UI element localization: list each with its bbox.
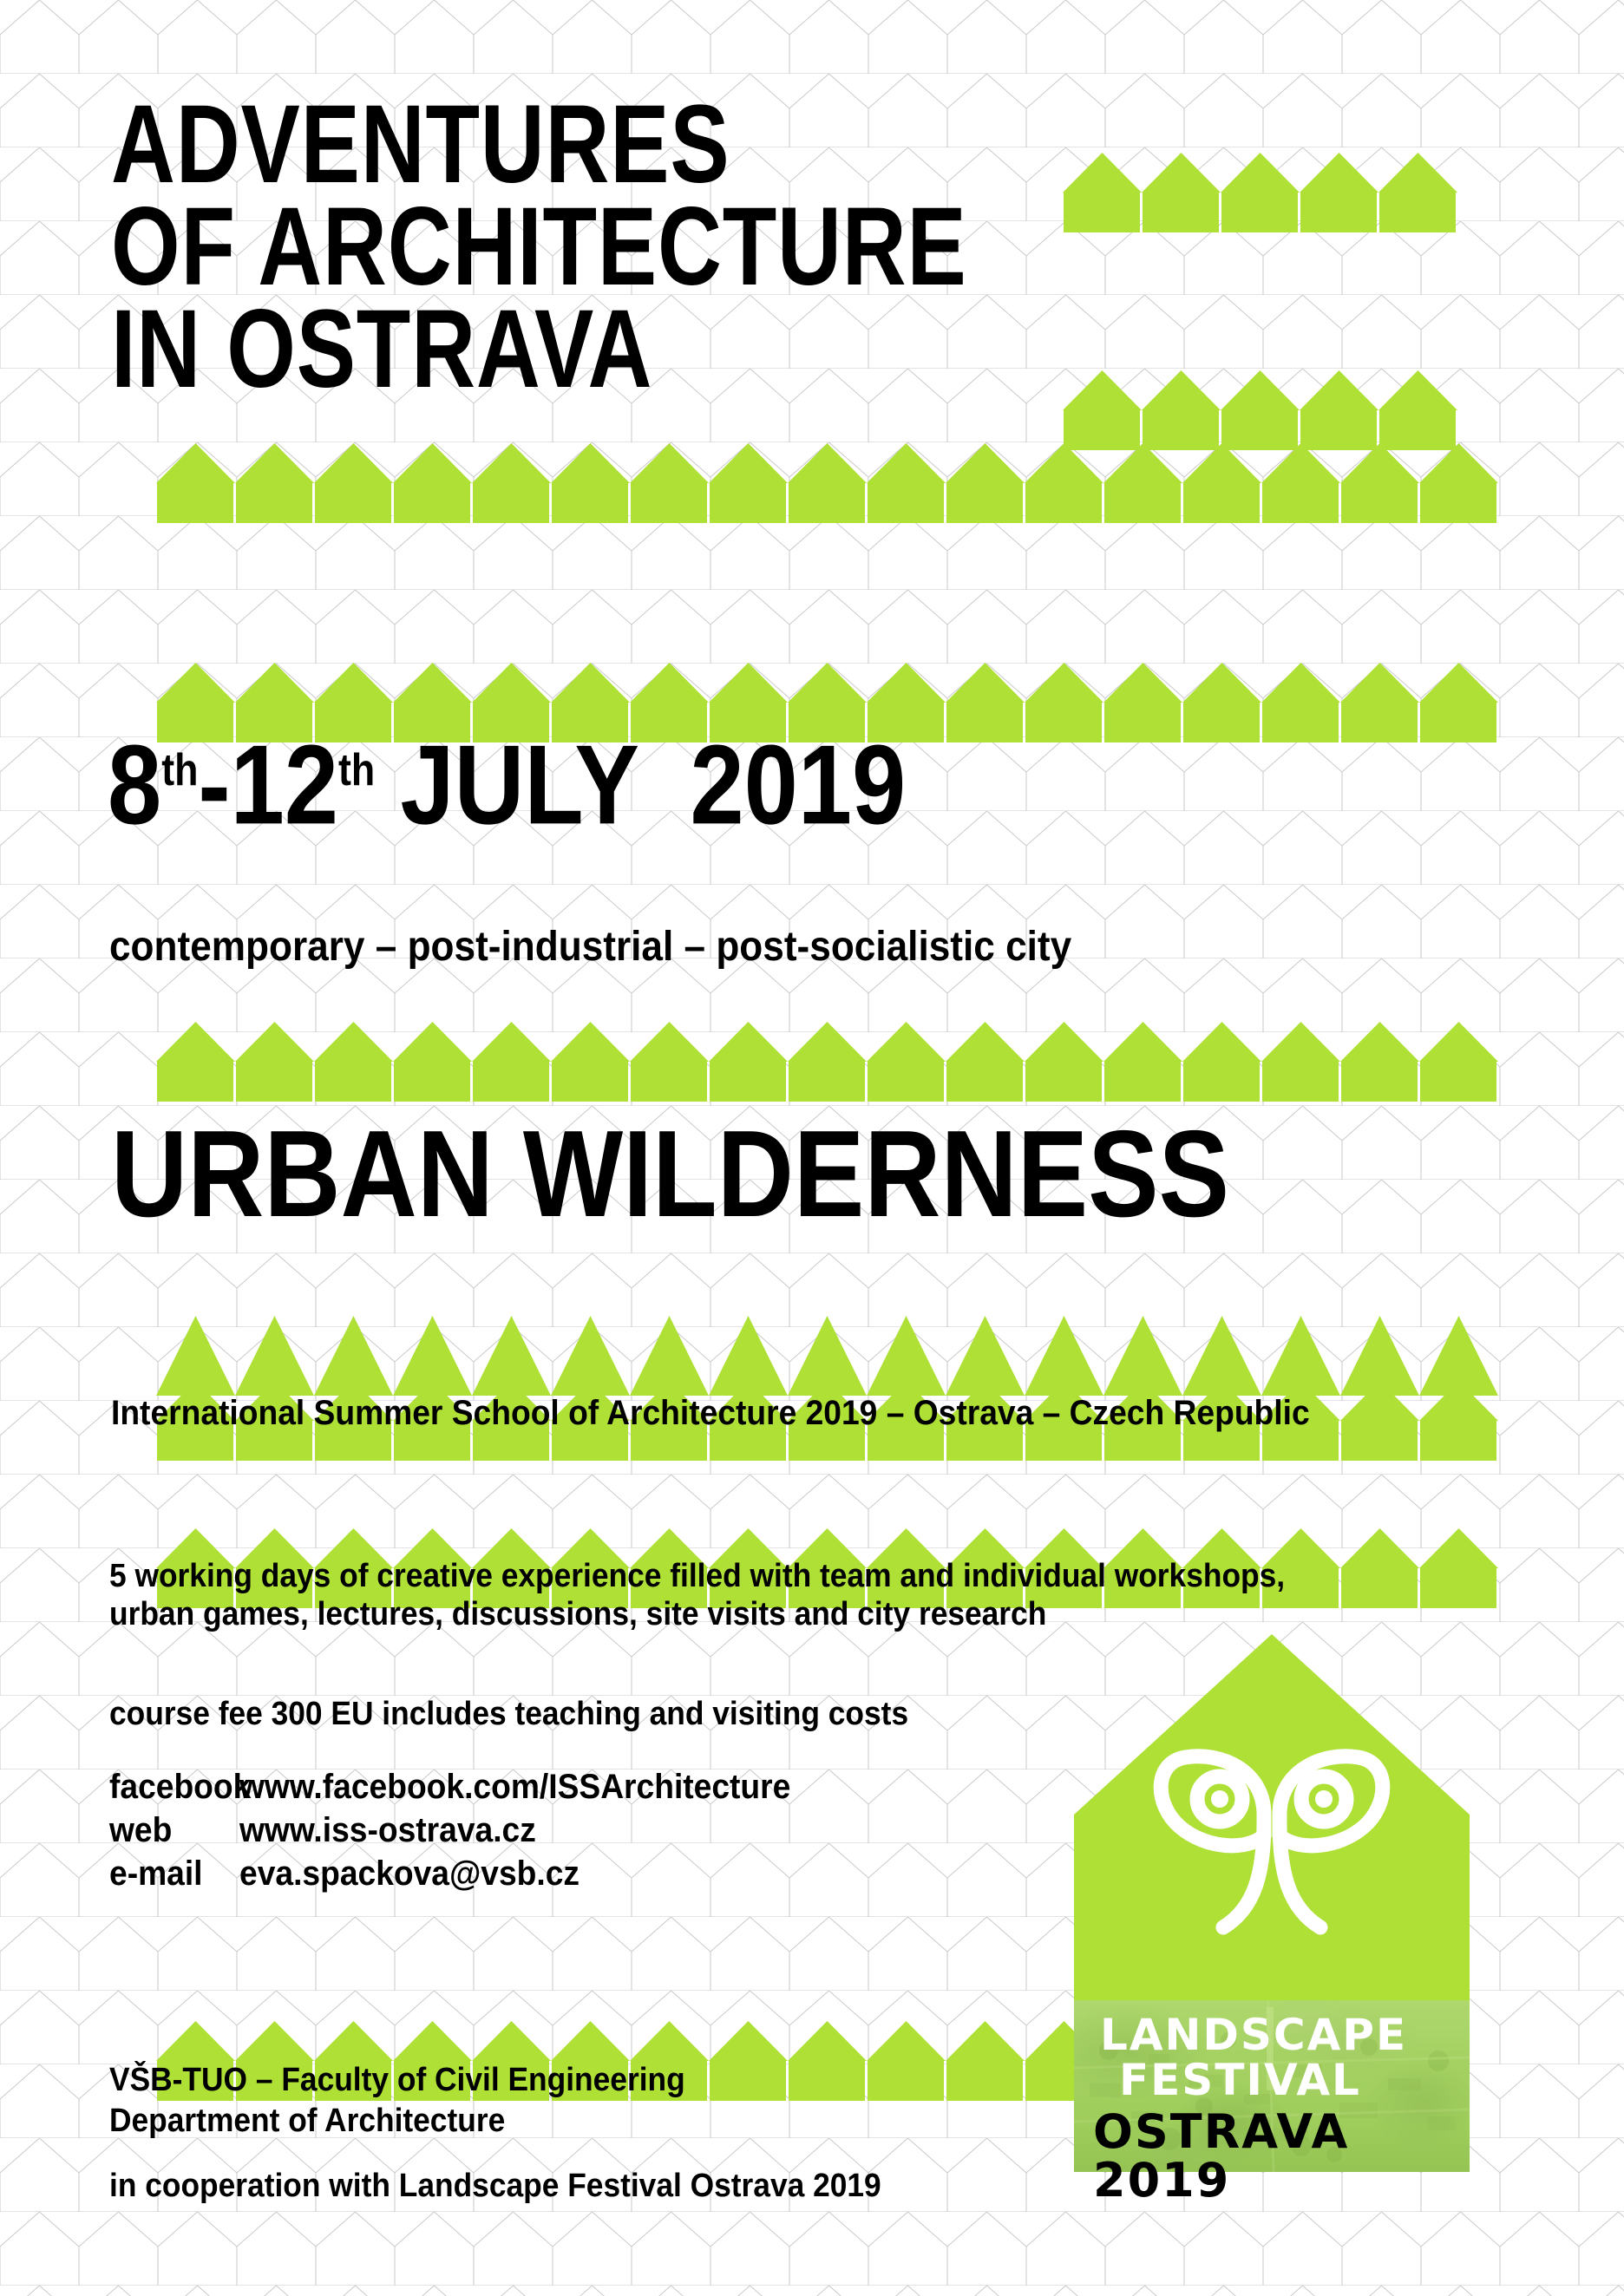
house-body: [946, 702, 1023, 742]
green-house-icon: [1261, 443, 1340, 523]
house-roof: [156, 663, 235, 703]
landscape-festival-logo: LANDSCAPE FESTIVAL OSTRAVA 2019: [1074, 1634, 1470, 2172]
green-house-icon: [1103, 1022, 1182, 1102]
house-roof: [551, 443, 630, 483]
contact-row-email[interactable]: e-mail eva.spackova@vsb.cz: [109, 1852, 832, 1895]
house-roof: [630, 2021, 709, 2061]
house-band-4: [156, 1022, 1498, 1102]
green-house-icon: [1300, 153, 1378, 232]
contact-value-email[interactable]: eva.spackova@vsb.cz: [239, 1852, 580, 1895]
description-line-2: urban games, lectures, discussions, site…: [109, 1595, 1285, 1633]
house-roof: [235, 1022, 314, 1062]
description-block: 5 working days of creative experience fi…: [109, 1557, 1373, 1633]
house-body: [1420, 482, 1496, 523]
house-roof: [788, 443, 867, 483]
green-house-icon: [235, 1022, 314, 1102]
house-roof: [393, 443, 472, 483]
house-body: [710, 482, 786, 523]
house-body: [1420, 1567, 1496, 1608]
house-roof: [472, 2021, 551, 2061]
date-ordinal-end: th: [338, 745, 375, 795]
house-roof: [314, 1022, 393, 1062]
house-roof: [235, 443, 314, 483]
house-roof: [1103, 443, 1182, 483]
house-roof: [472, 443, 551, 483]
house-roof: [472, 1022, 551, 1062]
house-band-2: [156, 443, 1498, 523]
house-body: [1341, 702, 1418, 742]
house-roof: [630, 1022, 709, 1062]
house-body: [1341, 1061, 1418, 1102]
green-house-icon: [551, 1022, 630, 1102]
house-body: [789, 1061, 865, 1102]
green-house-icon: [788, 1022, 867, 1102]
event-date: 8th-12thJULY2019: [108, 714, 906, 841]
green-house-icon: [1340, 1381, 1419, 1461]
green-house-icon: [630, 1022, 709, 1102]
house-body: [394, 482, 470, 523]
tagline: contemporary – post-industrial – post-so…: [109, 926, 1071, 969]
green-house-icon: [472, 1022, 551, 1102]
house-body: [236, 482, 312, 523]
house-roof: [630, 443, 709, 483]
house-body: [473, 1061, 549, 1102]
title-line-2: OF ARCHITECTURE: [111, 196, 967, 298]
contact-label-facebook: facebook: [109, 1765, 231, 1809]
house-body: [1420, 1061, 1496, 1102]
green-house-icon: [1419, 663, 1498, 742]
house-body: [1262, 1061, 1339, 1102]
green-house-icon: [946, 1022, 1025, 1102]
green-house-icon: [1378, 153, 1457, 232]
green-house-icon: [946, 2021, 1025, 2101]
house-roof: [1419, 1528, 1498, 1568]
contact-row-facebook[interactable]: facebook www.facebook.com/ISSArchitectur…: [109, 1765, 832, 1809]
green-house-icon: [1025, 443, 1103, 523]
house-body: [1420, 1420, 1496, 1461]
house-body: [789, 482, 865, 523]
contact-value-facebook[interactable]: www.facebook.com/ISSArchitecture: [239, 1765, 790, 1809]
green-house-icon: [946, 663, 1025, 742]
green-house-icon: [393, 443, 472, 523]
green-house-icon: [1103, 443, 1182, 523]
house-roof: [235, 663, 314, 703]
house-roof: [1025, 443, 1103, 483]
house-body: [946, 1061, 1023, 1102]
house-roof: [788, 2021, 867, 2061]
house-roof: [867, 663, 946, 703]
house-body: [1104, 702, 1181, 742]
house-body: [315, 482, 391, 523]
house-roof: [1221, 153, 1300, 193]
course-fee: course fee 300 EU includes teaching and …: [109, 1696, 908, 1732]
house-body: [552, 1061, 628, 1102]
page-title: ADVENTURES OF ARCHITECTURE IN OSTRAVA: [111, 94, 1181, 401]
green-house-icon: [1419, 1528, 1498, 1608]
house-roof: [551, 2021, 630, 2061]
green-house-icon: [314, 443, 393, 523]
house-roof: [1378, 370, 1457, 410]
house-roof: [1340, 1381, 1419, 1421]
house-body: [1262, 702, 1339, 742]
contact-block: facebook www.facebook.com/ISSArchitectur…: [109, 1765, 832, 1895]
green-house-icon: [314, 1022, 393, 1102]
green-house-icon: [867, 1022, 946, 1102]
house-body: [236, 1061, 312, 1102]
house-roof: [1300, 370, 1378, 410]
green-house-icon: [1025, 663, 1103, 742]
green-house-icon: [1300, 370, 1378, 450]
school-subtitle: International Summer School of Architect…: [111, 1395, 1310, 1431]
house-roof: [1261, 1022, 1340, 1062]
house-roof: [1419, 1022, 1498, 1062]
house-body: [1183, 702, 1260, 742]
green-house-icon: [1419, 1381, 1498, 1461]
green-house-icon: [1182, 443, 1261, 523]
house-body: [1025, 702, 1102, 742]
house-body: [1262, 482, 1339, 523]
green-house-icon: [1419, 443, 1498, 523]
contact-label-email: e-mail: [109, 1852, 231, 1895]
logo-line-festival: FESTIVAL: [1119, 2057, 1361, 2103]
green-house-icon: [1103, 663, 1182, 742]
house-roof: [1419, 1381, 1498, 1421]
contact-value-web[interactable]: www.iss-ostrava.cz: [239, 1809, 536, 1852]
green-house-icon: [1182, 663, 1261, 742]
green-house-icon: [1340, 443, 1419, 523]
house-roof: [1261, 663, 1340, 703]
house-body: [631, 1061, 707, 1102]
house-body: [157, 1061, 233, 1102]
green-house-icon: [630, 443, 709, 523]
green-house-icon: [156, 443, 235, 523]
house-roof: [788, 1022, 867, 1062]
house-body: [1183, 482, 1260, 523]
green-house-icon: [1378, 370, 1457, 450]
house-roof: [472, 663, 551, 703]
house-roof: [946, 2021, 1025, 2061]
house-roof: [393, 663, 472, 703]
green-house-icon: [709, 1022, 788, 1102]
green-house-icon: [1261, 663, 1340, 742]
house-roof: [709, 2021, 788, 2061]
house-roof: [630, 663, 709, 703]
house-body: [552, 482, 628, 523]
house-body: [1221, 192, 1298, 232]
house-roof: [393, 2021, 472, 2061]
house-body: [1420, 702, 1496, 742]
title-line-3: IN OSTRAVA: [111, 298, 967, 401]
green-house-icon: [709, 443, 788, 523]
house-body: [946, 2060, 1023, 2101]
house-body: [315, 1061, 391, 1102]
description-line-1: 5 working days of creative experience fi…: [109, 1557, 1285, 1595]
house-body: [157, 482, 233, 523]
house-roof: [1025, 1022, 1103, 1062]
house-body: [473, 482, 549, 523]
logo-line-landscape: LANDSCAPE: [1100, 2012, 1407, 2057]
house-body: [946, 482, 1023, 523]
house-body: [710, 1061, 786, 1102]
house-roof: [788, 663, 867, 703]
house-roof: [1103, 1022, 1182, 1062]
date-month: JULY: [400, 721, 639, 847]
logo-line-ostrava-2019: OSTRAVA 2019: [1093, 2108, 1470, 2205]
date-day-start: 8: [108, 721, 161, 847]
house-body: [1025, 1061, 1102, 1102]
house-roof: [551, 663, 630, 703]
house-body: [1341, 482, 1418, 523]
house-roof: [709, 663, 788, 703]
house-roof: [1182, 443, 1261, 483]
green-house-icon: [551, 443, 630, 523]
date-year: 2019: [690, 721, 906, 847]
house-roof: [867, 443, 946, 483]
house-roof: [314, 663, 393, 703]
green-house-icon: [1419, 1022, 1498, 1102]
date-ordinal-start: th: [161, 745, 198, 795]
green-house-icon: [946, 443, 1025, 523]
house-roof: [867, 2021, 946, 2061]
green-house-icon: [1182, 1022, 1261, 1102]
green-house-icon: [1261, 1022, 1340, 1102]
house-roof: [709, 443, 788, 483]
house-roof: [1378, 153, 1457, 193]
green-house-icon: [393, 1022, 472, 1102]
organiser-block: VŠB-TUO – Faculty of Civil Engineering D…: [109, 2060, 940, 2207]
house-roof: [1300, 153, 1378, 193]
house-roof: [1340, 1022, 1419, 1062]
house-roof: [709, 1022, 788, 1062]
organiser-line-3: in cooperation with Landscape Festival O…: [109, 2166, 881, 2207]
house-roof: [1340, 663, 1419, 703]
house-roof: [1261, 443, 1340, 483]
house-body: [1104, 1061, 1181, 1102]
green-house-icon: [1340, 1022, 1419, 1102]
contact-label-web: web: [109, 1809, 231, 1852]
house-roof: [1103, 663, 1182, 703]
house-roof: [946, 443, 1025, 483]
organiser-line-2: Department of Architecture: [109, 2101, 881, 2142]
green-house-icon: [235, 443, 314, 523]
green-house-icon: [472, 443, 551, 523]
house-roof: [946, 663, 1025, 703]
date-dash: -: [198, 721, 230, 847]
green-house-icon: [1221, 153, 1300, 232]
house-roof: [1419, 663, 1498, 703]
house-body: [1025, 482, 1102, 523]
house-roof: [946, 1022, 1025, 1062]
house-roof: [867, 1022, 946, 1062]
logo-house-shape: [1074, 1634, 1470, 2000]
house-roof: [1025, 663, 1103, 703]
green-house-icon: [1221, 370, 1300, 450]
house-roof: [314, 2021, 393, 2061]
spacer: [109, 2142, 940, 2166]
contact-row-web[interactable]: web www.iss-ostrava.cz: [109, 1809, 832, 1852]
house-roof: [1182, 663, 1261, 703]
house-body: [868, 482, 944, 523]
green-house-icon: [788, 443, 867, 523]
house-roof: [156, 2021, 235, 2061]
house-body: [1300, 192, 1377, 232]
house-roof: [393, 1022, 472, 1062]
house-body: [394, 1061, 470, 1102]
house-roof: [1182, 1022, 1261, 1062]
house-roof: [1340, 443, 1419, 483]
theme-heading: URBAN WILDERNESS: [111, 1113, 1229, 1236]
house-body: [1183, 1061, 1260, 1102]
house-body: [1379, 192, 1456, 232]
house-roof: [235, 2021, 314, 2061]
house-roof: [1419, 443, 1498, 483]
house-roof: [156, 443, 235, 483]
house-roof: [314, 443, 393, 483]
logo-wordmark: LANDSCAPE FESTIVAL OSTRAVA 2019: [1074, 2000, 1470, 2172]
date-day-end: 12: [231, 721, 338, 847]
house-roof: [1221, 370, 1300, 410]
house-roof: [551, 1022, 630, 1062]
green-house-icon: [1025, 1022, 1103, 1102]
house-body: [1341, 1420, 1418, 1461]
title-line-1: ADVENTURES: [111, 94, 967, 196]
house-body: [1104, 482, 1181, 523]
organiser-line-1: VŠB-TUO – Faculty of Civil Engineering: [109, 2060, 881, 2101]
green-house-icon: [1340, 663, 1419, 742]
house-roof: [156, 1022, 235, 1062]
green-house-icon: [867, 443, 946, 523]
house-body: [868, 1061, 944, 1102]
house-body: [631, 482, 707, 523]
green-house-icon: [156, 1022, 235, 1102]
